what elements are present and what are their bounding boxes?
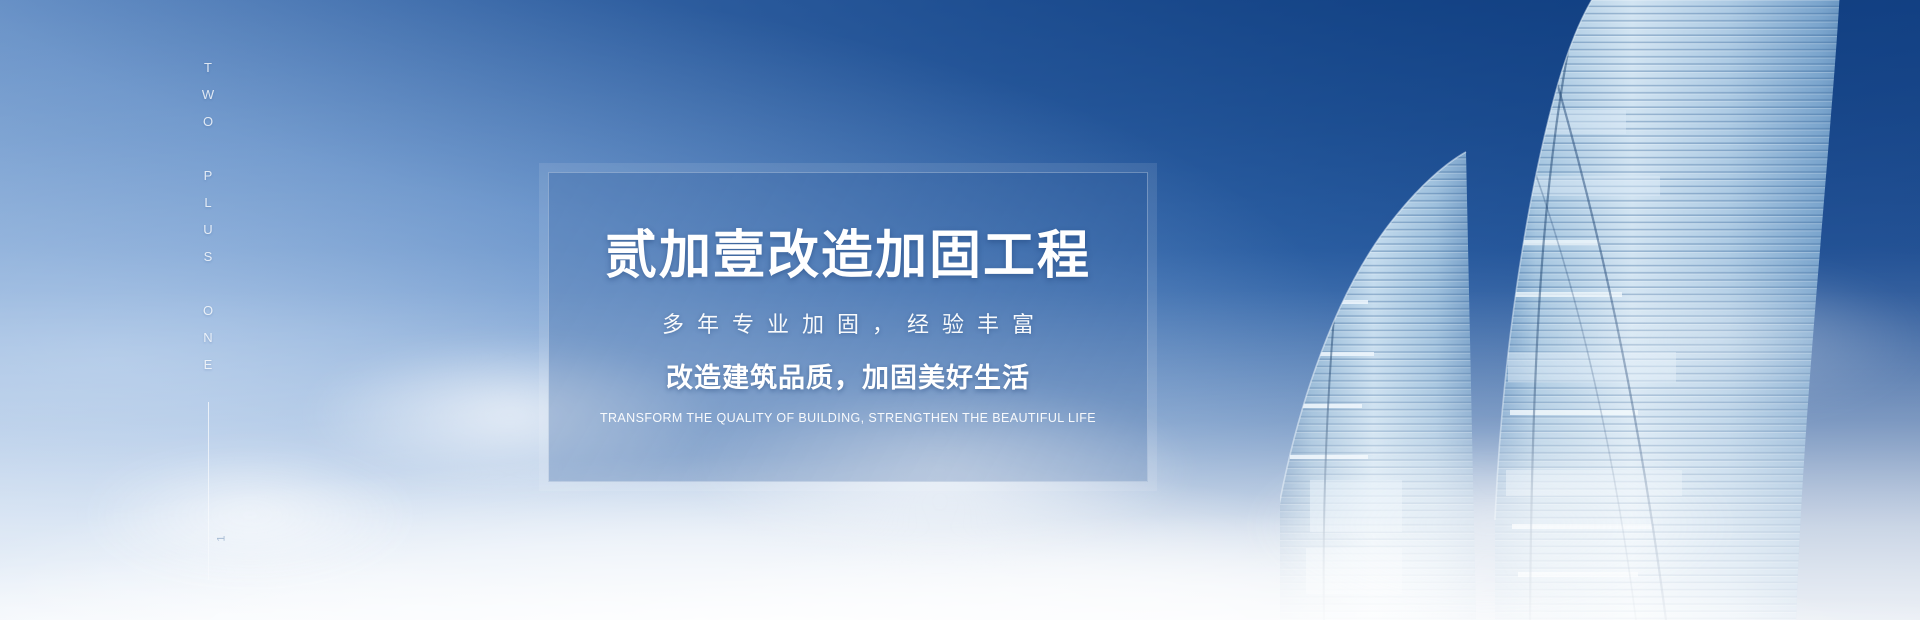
page-subtitle: 多年专业加固，经验丰富: [575, 312, 1121, 338]
brand-vertical-text: TWO PLUS ONE: [202, 60, 215, 384]
hero-text-panel: 贰加壹改造加固工程 多年专业加固，经验丰富 改造建筑品质，加固美好生活 TRAN…: [548, 172, 1148, 482]
cloud-wisp: [1180, 410, 1800, 620]
brand-divider-line: [208, 402, 209, 580]
brand-rail: TWO PLUS ONE 1: [178, 60, 238, 580]
english-caption: TRANSFORM THE QUALITY OF BUILDING, STREN…: [575, 410, 1121, 426]
corner-mark: 1: [216, 534, 228, 541]
hero-text-group: 贰加壹改造加固工程 多年专业加固，经验丰富 改造建筑品质，加固美好生活 TRAN…: [549, 227, 1147, 426]
cloud-wisp: [40, 430, 460, 600]
hero-banner: TWO PLUS ONE 1 贰加壹改造加固工程 多年专业加固，经验丰富 改造建…: [0, 0, 1920, 620]
page-title: 贰加壹改造加固工程: [575, 227, 1121, 285]
slogan-text: 改造建筑品质，加固美好生活: [575, 362, 1121, 394]
